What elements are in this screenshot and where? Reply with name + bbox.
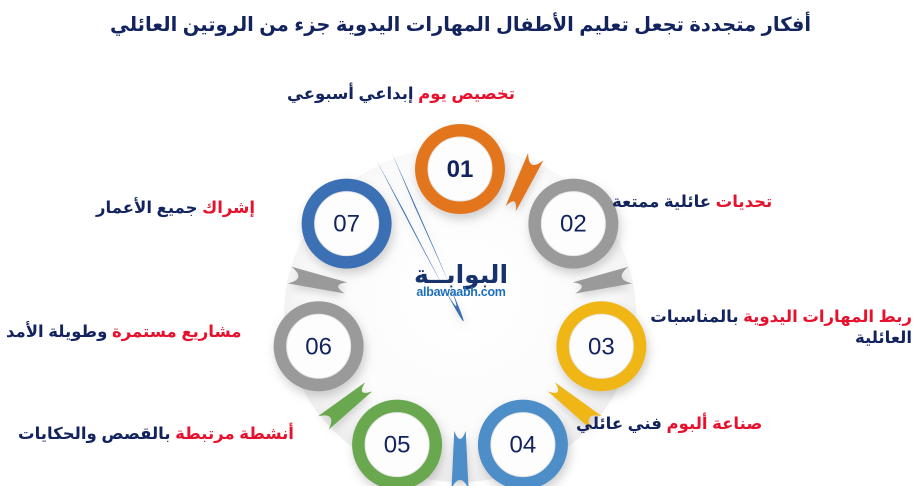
node-number-07: 07: [333, 211, 360, 238]
label-03-highlight: ربط المهارات اليدوية: [743, 308, 912, 326]
label-item-07: إشراك جميع الأعمار: [96, 198, 255, 219]
label-item-01: تخصيص يوم إبداعي أسبوعي: [231, 84, 571, 105]
node-07[interactable]: 07: [302, 179, 392, 269]
label-07-rest: جميع الأعمار: [96, 199, 198, 217]
node-06[interactable]: 06: [274, 301, 364, 391]
label-05-rest: بالقصص والحكايات: [18, 425, 171, 443]
label-04-highlight: صناعة ألبوم: [667, 415, 763, 433]
label-item-03: ربط المهارات اليدوية بالمناسبات العائلية: [612, 307, 912, 349]
node-04[interactable]: 04: [478, 400, 568, 486]
connector-04: [451, 431, 468, 486]
label-06-highlight: مشاريع مستمرة: [112, 323, 242, 341]
label-05-highlight: أنشطة مرتبطة: [175, 425, 294, 443]
label-item-06: مشاريع مستمرة وطويلة الأمد: [6, 322, 242, 343]
node-number-01: 01: [447, 156, 474, 183]
label-01-highlight: تخصيص يوم: [418, 85, 515, 103]
label-item-05: أنشطة مرتبطة بالقصص والحكايات: [18, 424, 294, 445]
label-item-02: تحديات عائلية ممتعة: [612, 192, 772, 213]
label-06-rest: وطويلة الأمد: [6, 323, 107, 341]
label-02-rest: عائلية ممتعة: [612, 193, 711, 211]
label-item-04: صناعة ألبوم فني عائلي: [576, 414, 762, 435]
page-title: أفكار متجددة تجعل تعليم الأطفال المهارات…: [0, 12, 921, 38]
label-02-highlight: تحديات: [716, 193, 773, 211]
node-number-02: 02: [560, 211, 587, 238]
node-number-05: 05: [384, 432, 411, 459]
node-number-06: 06: [305, 333, 332, 360]
infographic-canvas: أفكار متجددة تجعل تعليم الأطفال المهارات…: [0, 0, 921, 486]
node-05[interactable]: 05: [352, 400, 442, 486]
label-07-highlight: إشراك: [202, 199, 255, 217]
node-01[interactable]: 01: [415, 124, 505, 214]
node-02[interactable]: 02: [528, 179, 618, 269]
label-04-rest: فني عائلي: [576, 415, 662, 433]
label-01-rest: إبداعي أسبوعي: [287, 85, 414, 103]
node-number-03: 03: [588, 333, 615, 360]
node-number-04: 04: [510, 432, 537, 459]
